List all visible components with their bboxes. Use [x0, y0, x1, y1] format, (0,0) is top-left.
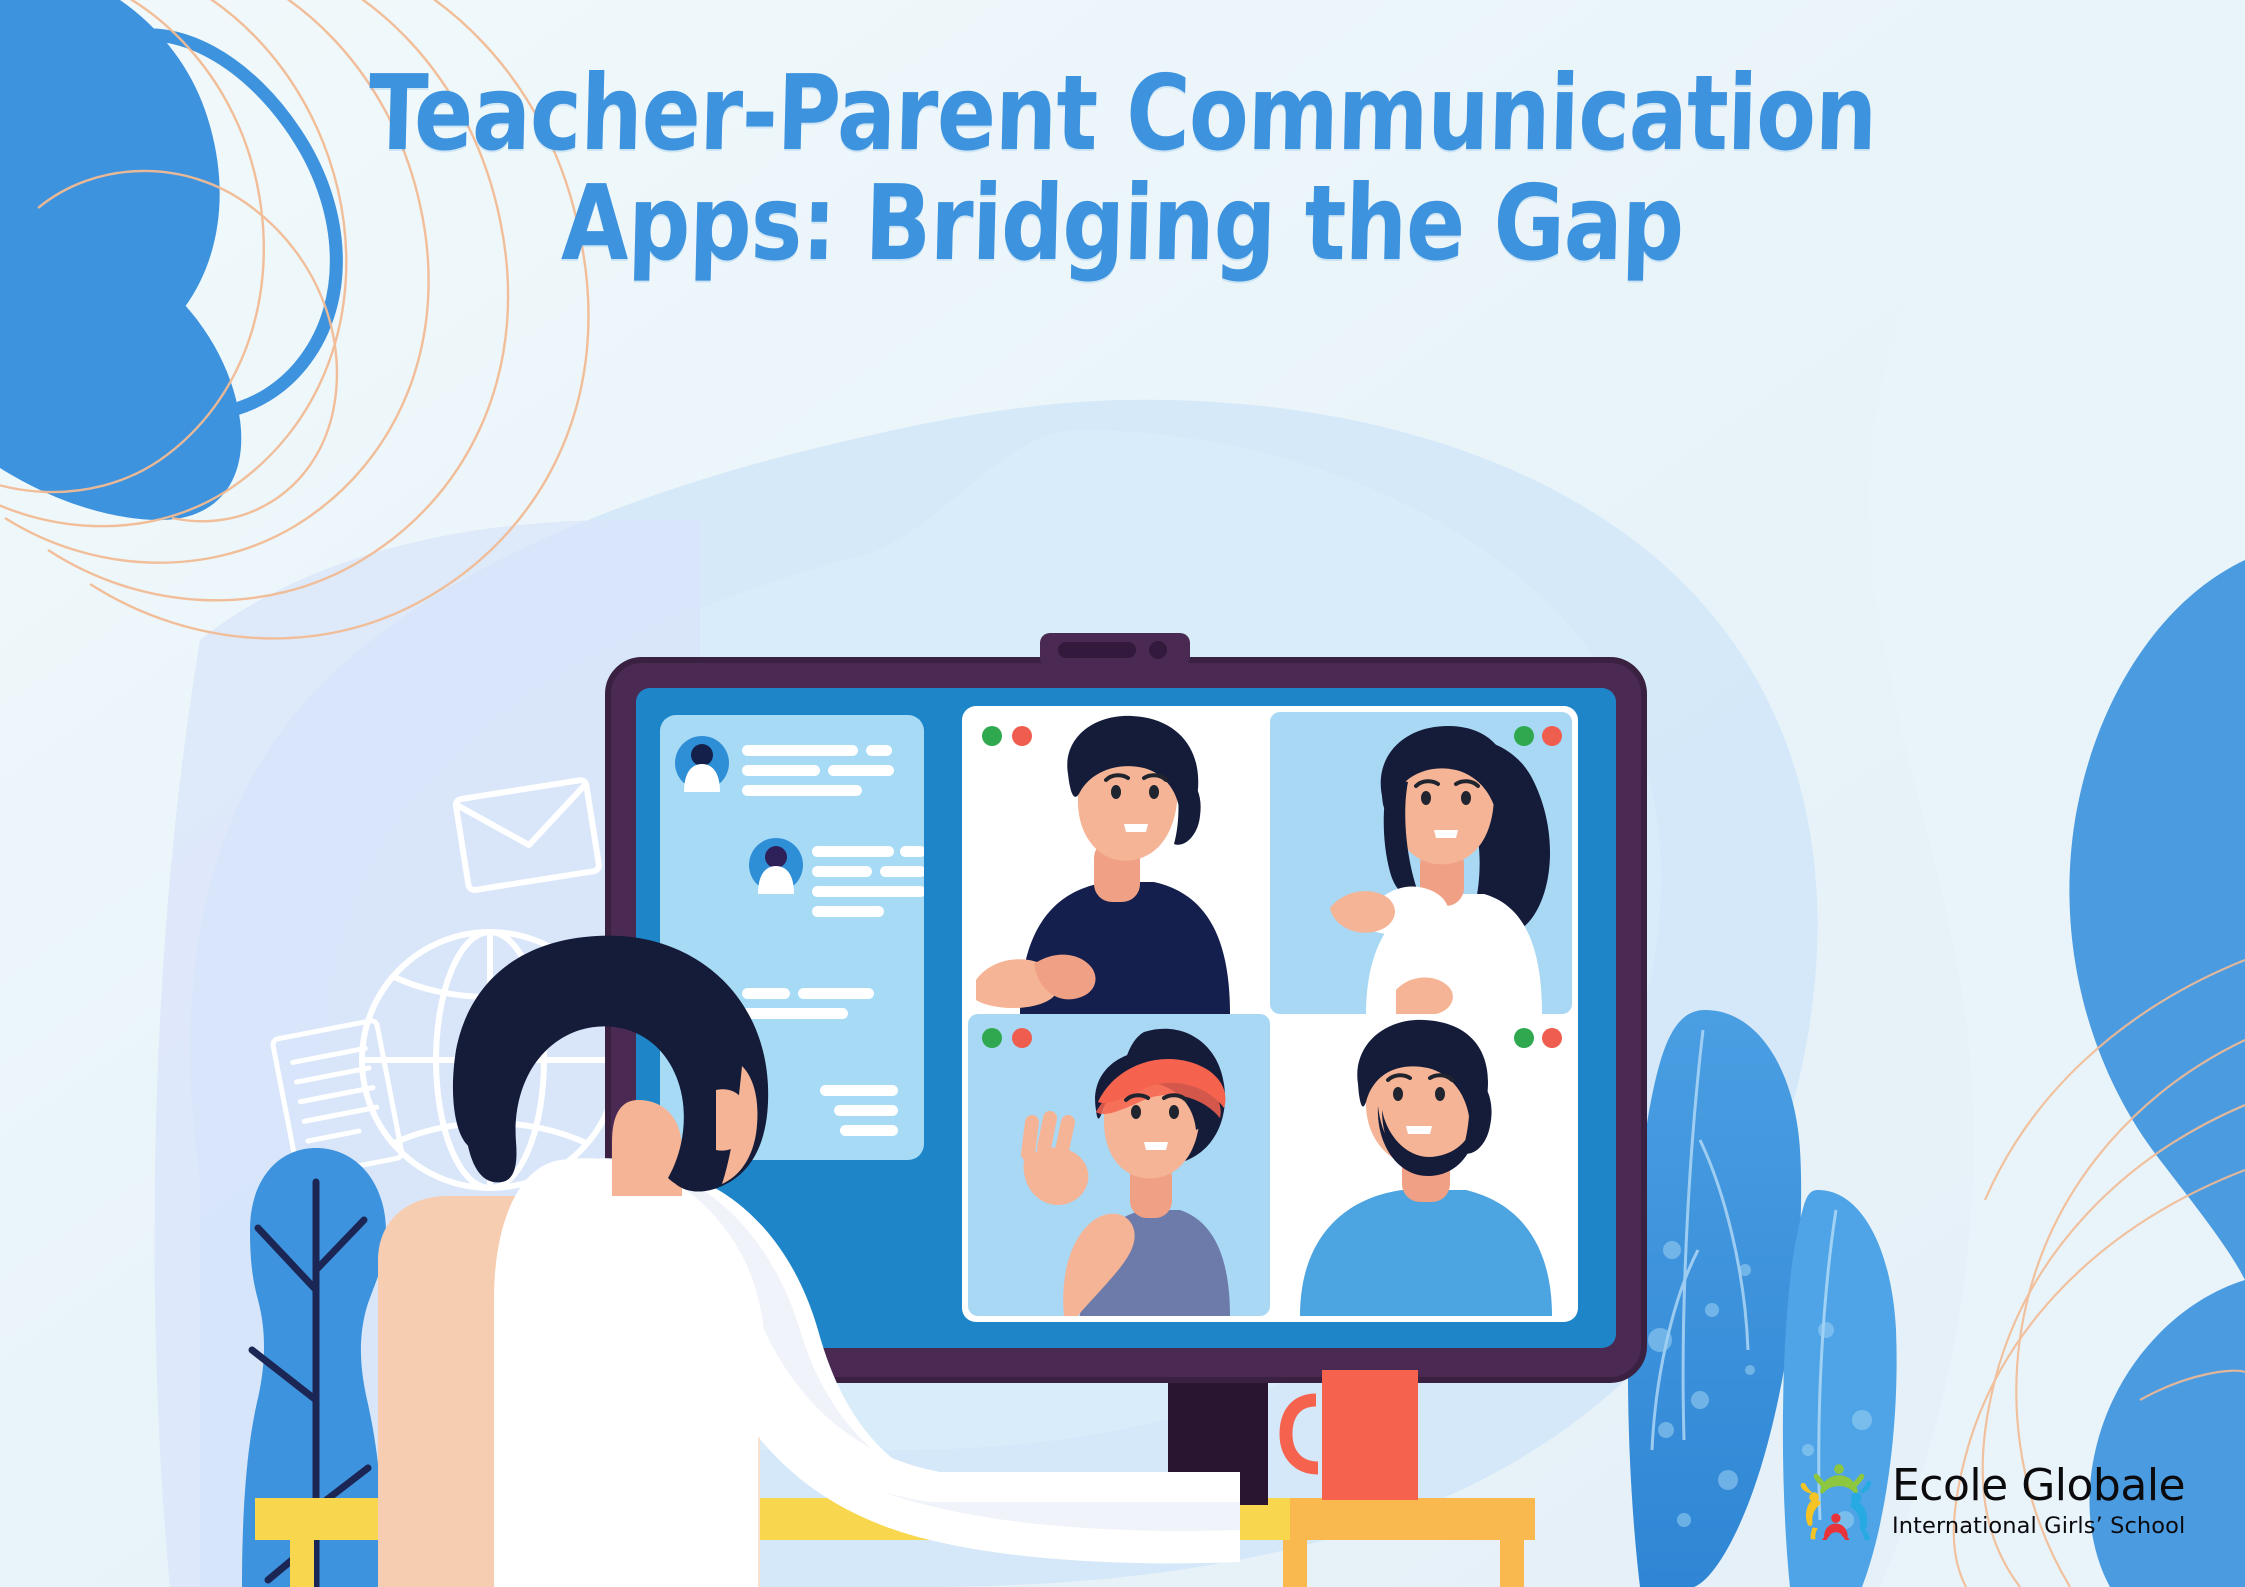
video-tile-top-right: [1270, 712, 1572, 1014]
brand-logo[interactable]: Ecole Globale International Girls’ Schoo…: [1800, 1462, 2185, 1540]
logo-tagline: International Girls’ School: [1892, 1515, 2185, 1538]
video-conference-illustration: [0, 0, 2245, 1587]
coffee-mug-coral: [1286, 1370, 1418, 1500]
logo-text: Ecole Globale International Girls’ Schoo…: [1892, 1464, 2185, 1538]
video-call-grid: [962, 706, 1578, 1322]
logo-figure-yellow: [1801, 1483, 1821, 1539]
video-tile-bottom-left: [968, 1014, 1270, 1316]
logo-figure-green: [1814, 1464, 1865, 1493]
monitor-webcam: [1040, 633, 1190, 667]
video-tile-top-left: [968, 712, 1270, 1014]
poster-canvas: Teacher-Parent Communication Apps: Bridg…: [0, 0, 2245, 1587]
ecole-globale-logo-icon: [1800, 1462, 1878, 1540]
logo-figure-red: [1822, 1513, 1850, 1540]
logo-name: Ecole Globale: [1892, 1464, 2185, 1508]
video-tile-bottom-right: [1270, 1014, 1572, 1316]
